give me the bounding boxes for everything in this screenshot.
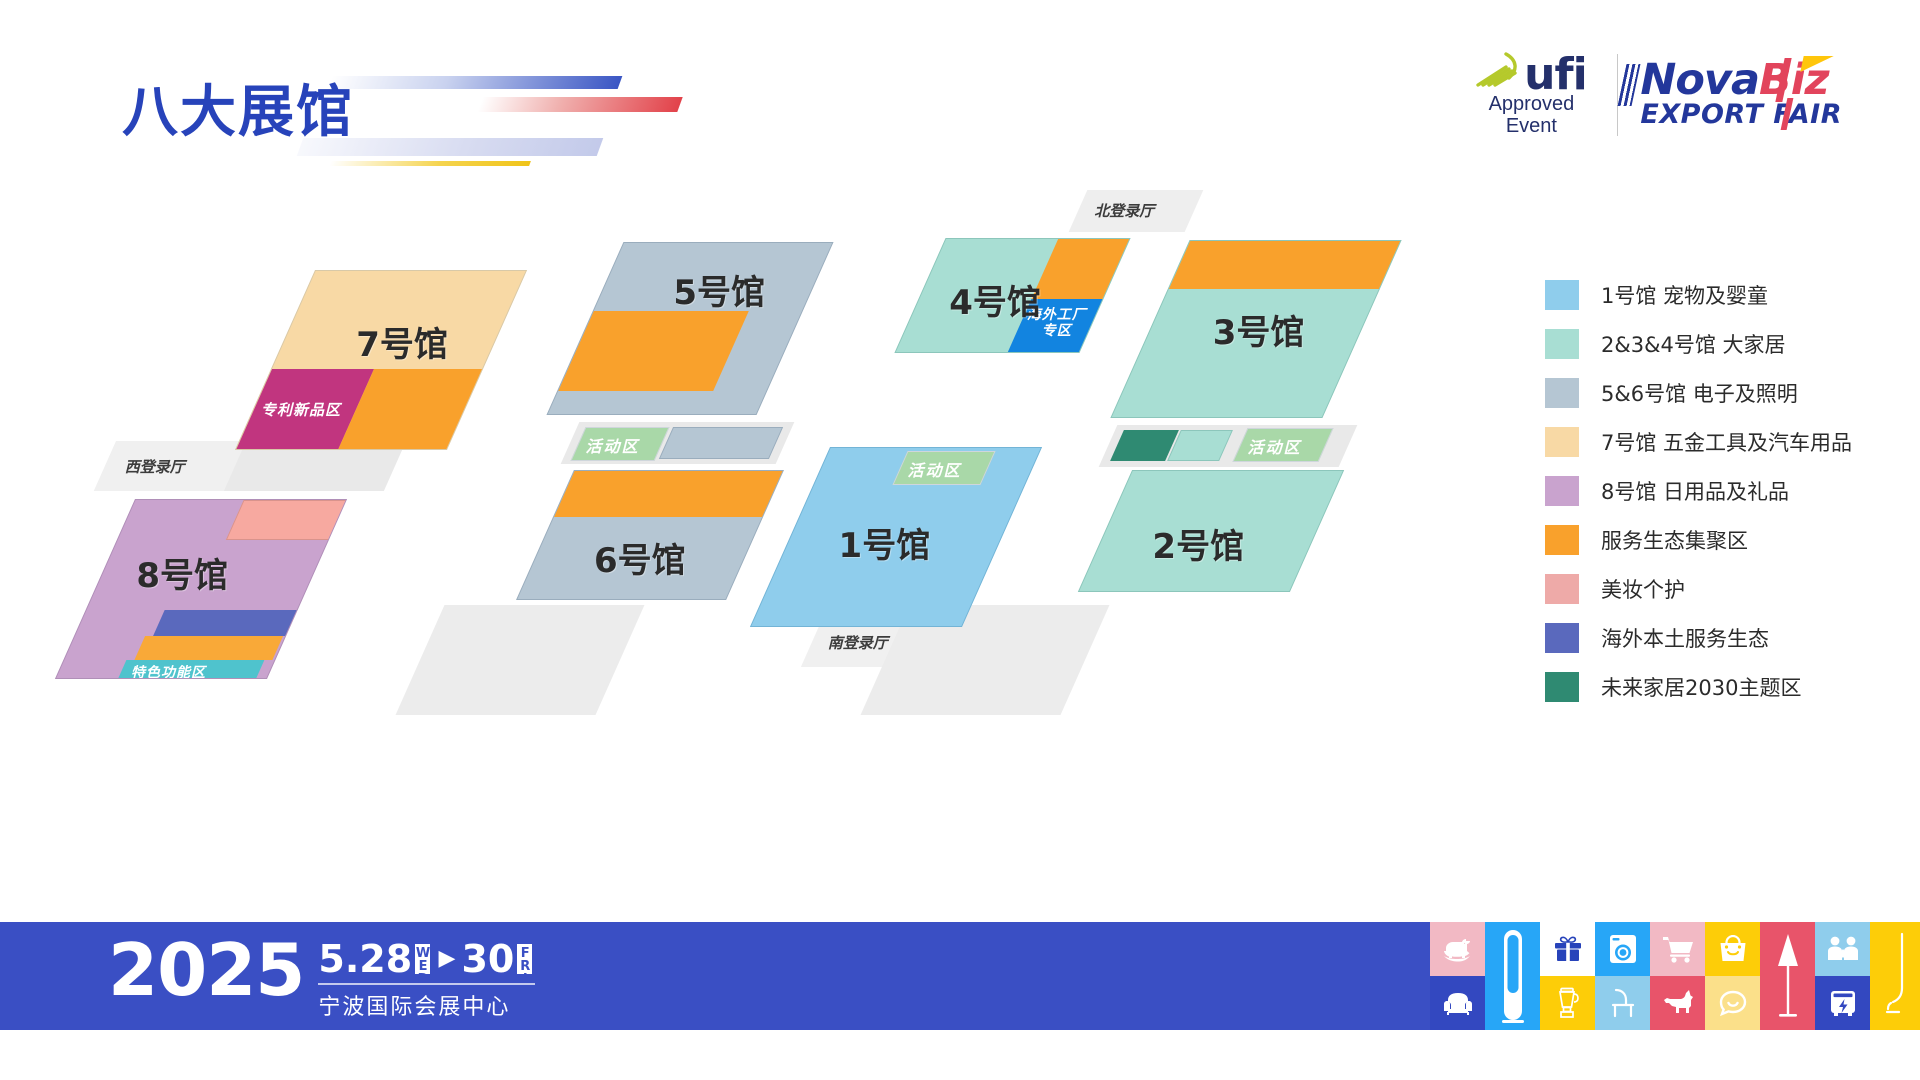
novabiz-wordmark: NovaBiz bbox=[1640, 60, 1828, 101]
legend-item[interactable]: 5&6号馆 电子及照明 bbox=[1545, 378, 1905, 408]
novabiz-tagline: EXPORT FAIR bbox=[1640, 101, 1842, 129]
floorplan-map: 北登录厅 西登录厅 南登录厅 专利新品区 7号馆 特色功能区 bbox=[0, 175, 1520, 895]
hall-2-label: 2号馆 bbox=[1152, 519, 1244, 568]
hall-5[interactable]: 5号馆 bbox=[546, 242, 833, 415]
empty-plot-left bbox=[396, 605, 645, 715]
hall-8-subzone-service[interactable] bbox=[134, 636, 283, 660]
activity-zone-3-2[interactable]: 活动区 bbox=[1232, 428, 1333, 462]
legend-label: 美妆个护 bbox=[1601, 574, 1685, 604]
power-bank-icon[interactable] bbox=[1815, 976, 1870, 1030]
legend-swatch bbox=[1545, 476, 1579, 506]
novabiz-bars-icon bbox=[1618, 64, 1641, 106]
legend-swatch bbox=[1545, 574, 1579, 604]
tile-column bbox=[1595, 922, 1650, 1030]
title-stripe-red bbox=[477, 97, 682, 112]
hall-8[interactable]: 特色功能区 8号馆 bbox=[55, 499, 347, 679]
hall-3-label: 3号馆 bbox=[1213, 305, 1305, 354]
legend-label: 8号馆 日用品及礼品 bbox=[1601, 476, 1789, 506]
page-title-block: 八大展馆 bbox=[0, 0, 720, 200]
hall-5-label: 5号馆 bbox=[673, 265, 765, 314]
family-icon[interactable] bbox=[1815, 922, 1870, 976]
legend-item[interactable]: 8号馆 日用品及礼品 bbox=[1545, 476, 1905, 506]
hall-8-subzone-beauty[interactable] bbox=[226, 500, 347, 540]
hall-7[interactable]: 专利新品区 7号馆 bbox=[235, 270, 527, 450]
blender-icon[interactable] bbox=[1540, 976, 1595, 1030]
activity-zone-5-6-label: 活动区 bbox=[586, 433, 640, 457]
hall-1-label: 1号馆 bbox=[839, 518, 931, 567]
ufi-approved-line: Approved bbox=[1489, 94, 1575, 115]
entrance-north: 北登录厅 bbox=[1069, 190, 1204, 232]
hall-4-label: 4号馆 bbox=[949, 275, 1041, 324]
floor-lamp-icon[interactable] bbox=[1760, 922, 1815, 1030]
hall-8-subzone-feature[interactable]: 特色功能区 bbox=[117, 660, 264, 679]
banner-date-start: 5.28 bbox=[318, 940, 412, 978]
title-stripe-yellow bbox=[329, 161, 531, 166]
legend-item[interactable]: 未来家居2030主题区 bbox=[1545, 672, 1905, 702]
legend-item[interactable]: 海外本土服务生态 bbox=[1545, 623, 1905, 653]
tile-column bbox=[1430, 922, 1485, 1030]
chat-smile-icon[interactable] bbox=[1705, 976, 1760, 1030]
legend-item[interactable]: 1号馆 宠物及婴童 bbox=[1545, 280, 1905, 310]
tile-column bbox=[1870, 922, 1920, 1030]
legend-label: 海外本土服务生态 bbox=[1601, 623, 1769, 653]
hall-4-subzone-service[interactable] bbox=[1031, 239, 1130, 299]
hall-6-subzone-service[interactable] bbox=[554, 471, 784, 517]
title-stripe-blue bbox=[328, 76, 623, 89]
entrance-west-label: 西登录厅 bbox=[125, 456, 185, 477]
poster-canvas: 八大展馆 ufi Approved Event bbox=[0, 0, 1920, 1080]
tile-column bbox=[1650, 922, 1705, 1030]
legend-swatch bbox=[1545, 427, 1579, 457]
category-icon-tiles bbox=[1430, 922, 1920, 1030]
entrance-north-label: 北登录厅 bbox=[1094, 200, 1154, 221]
banner-year: 2025 bbox=[108, 936, 304, 1004]
hall-6[interactable]: 6号馆 bbox=[516, 470, 784, 600]
legend-label: 1号馆 宠物及婴童 bbox=[1601, 280, 1768, 310]
hall-6-label: 6号馆 bbox=[594, 533, 686, 582]
hall-3[interactable]: 3号馆 bbox=[1110, 240, 1401, 418]
legend-swatch bbox=[1545, 525, 1579, 555]
novabiz-nova-text: Nova bbox=[1640, 55, 1759, 105]
ufi-swoosh-icon bbox=[1476, 52, 1522, 93]
novabiz-tagline-text: EXPORT FAIR bbox=[1640, 99, 1842, 130]
shopping-cart-icon[interactable] bbox=[1650, 922, 1705, 976]
tile-column bbox=[1540, 922, 1595, 1030]
legend-label: 2&3&4号馆 大家居 bbox=[1601, 329, 1786, 359]
armchair-icon[interactable] bbox=[1430, 976, 1485, 1030]
tile-column bbox=[1760, 922, 1815, 1030]
activity-zone-5-6[interactable]: 活动区 bbox=[570, 427, 669, 461]
legend-label: 5&6号馆 电子及照明 bbox=[1601, 378, 1798, 408]
hall-8-subzone-overseas[interactable] bbox=[153, 610, 303, 636]
hall-4[interactable]: 海外工厂 专区 4号馆 bbox=[894, 238, 1130, 353]
ufi-logo: ufi Approved Event bbox=[1467, 52, 1595, 137]
overseas-factory-line2: 专区 bbox=[1042, 323, 1072, 339]
legend-item[interactable]: 2&3&4号馆 大家居 bbox=[1545, 329, 1905, 359]
legend-label: 未来家居2030主题区 bbox=[1601, 672, 1801, 702]
banner-date-end: 30 bbox=[461, 940, 514, 978]
activity-zone-3-2-label: 活动区 bbox=[1248, 434, 1302, 458]
legend-swatch bbox=[1545, 623, 1579, 653]
legend-swatch bbox=[1545, 329, 1579, 359]
hall-5-subzone-service[interactable] bbox=[558, 311, 749, 391]
entrance-west-tab: 西登录厅 bbox=[94, 441, 246, 491]
hall-7-label: 7号馆 bbox=[356, 317, 448, 366]
novabiz-logo: NovaBiz EXPORT FAIR bbox=[1640, 60, 1842, 129]
banner-venue: 宁波国际会展中心 bbox=[318, 989, 534, 1021]
banner-dates: 5.28 WED ▶ 30 FRI 宁波国际会展中心 bbox=[318, 940, 534, 1021]
tile-column bbox=[1485, 922, 1540, 1030]
logo-divider bbox=[1617, 54, 1618, 136]
logo-group: ufi Approved Event NovaBiz EXPORT FAIR bbox=[1467, 52, 1842, 137]
vacuum-cleaner-icon[interactable] bbox=[1870, 922, 1920, 1030]
hall-8-label: 8号馆 bbox=[136, 548, 228, 597]
entrance-south-label: 南登录厅 bbox=[828, 632, 888, 653]
activity-zone-1-label: 活动区 bbox=[908, 457, 962, 481]
legend-swatch bbox=[1545, 672, 1579, 702]
banner-rule bbox=[318, 983, 534, 985]
legend-swatch bbox=[1545, 280, 1579, 310]
chair-icon[interactable] bbox=[1595, 976, 1650, 1030]
ufi-wordmark: ufi bbox=[1524, 56, 1587, 93]
rocking-horse-icon[interactable] bbox=[1430, 922, 1485, 976]
handbag-icon[interactable] bbox=[1705, 922, 1760, 976]
legend-item[interactable]: 服务生态集聚区 bbox=[1545, 525, 1905, 555]
dog-icon[interactable] bbox=[1650, 976, 1705, 1030]
banner-date-block: 2025 5.28 WED ▶ 30 FRI 宁波国际会展中心 bbox=[108, 936, 535, 1021]
legend: 1号馆 宠物及婴童 2&3&4号馆 大家居 5&6号馆 电子及照明 7号馆 五金… bbox=[1545, 280, 1905, 721]
banner-day-end: FRI bbox=[517, 944, 531, 974]
hall-8-subzone-feature-label: 特色功能区 bbox=[131, 662, 206, 679]
legend-swatch bbox=[1545, 378, 1579, 408]
hall-2[interactable]: 2号馆 bbox=[1078, 470, 1344, 592]
hall-7-subzone-patent-label: 专利新品区 bbox=[261, 399, 341, 420]
gift-icon[interactable] bbox=[1540, 922, 1595, 976]
legend-label: 服务生态集聚区 bbox=[1601, 525, 1748, 555]
banner-day-start: WED bbox=[415, 944, 429, 974]
legend-item[interactable]: 美妆个护 bbox=[1545, 574, 1905, 604]
activity-zone-1[interactable]: 活动区 bbox=[892, 451, 995, 485]
air-conditioner-icon[interactable] bbox=[1485, 922, 1540, 1030]
page-title: 八大展馆 bbox=[122, 85, 354, 141]
washing-machine-icon[interactable] bbox=[1595, 922, 1650, 976]
tile-column bbox=[1705, 922, 1760, 1030]
novabiz-flag-icon bbox=[1800, 56, 1833, 72]
tile-column bbox=[1815, 922, 1870, 1030]
ufi-event-line: Event bbox=[1506, 116, 1557, 137]
hall-3-subzone-service[interactable] bbox=[1169, 241, 1402, 289]
legend-item[interactable]: 7号馆 五金工具及汽车用品 bbox=[1545, 427, 1905, 457]
hall-5-6-grey-strip bbox=[659, 427, 783, 459]
banner-arrow-icon: ▶ bbox=[439, 948, 456, 970]
legend-label: 7号馆 五金工具及汽车用品 bbox=[1601, 427, 1852, 457]
